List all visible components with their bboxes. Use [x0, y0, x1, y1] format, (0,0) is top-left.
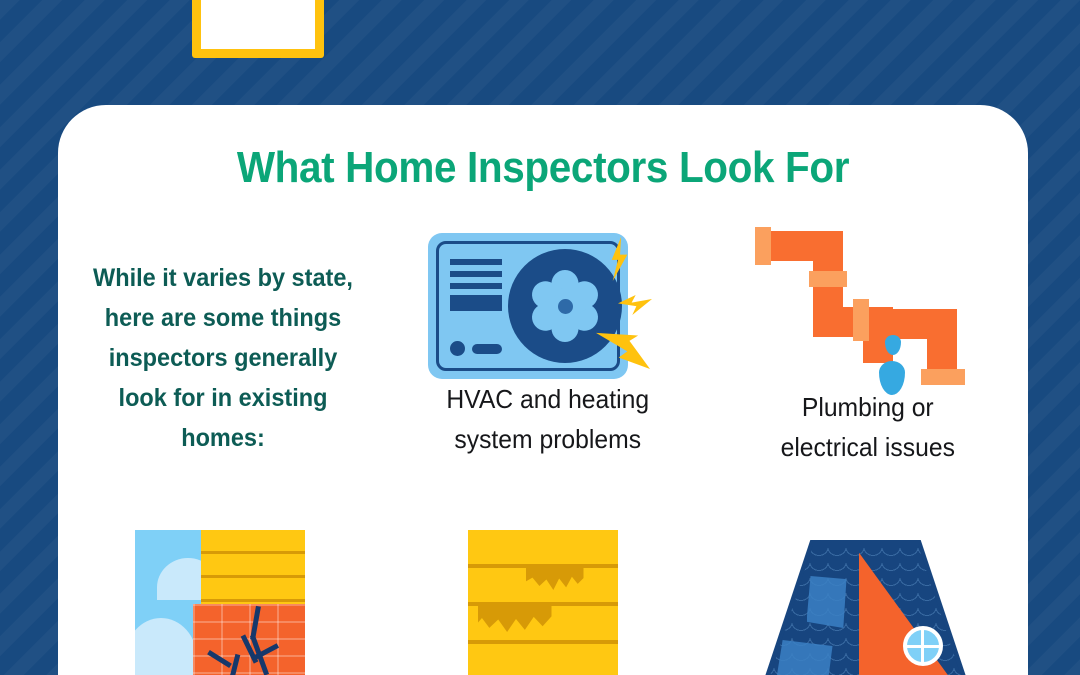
items-row-top: While it varies by state, here are some … [58, 225, 1028, 490]
hvac-vent-line [450, 271, 502, 277]
hvac-switch-icon [472, 344, 502, 354]
water-drop-icon [885, 335, 901, 355]
water-stain [526, 568, 584, 590]
plumbing-icon-wrap [743, 225, 993, 387]
pipe-joint [755, 227, 771, 265]
item-hvac: HVAC and heating system problems [388, 225, 708, 490]
water-damage-icon [468, 530, 618, 675]
hvac-fan-hub [558, 299, 573, 314]
item-plumbing: Plumbing or electrical issues [708, 225, 1028, 490]
item-caption: HVAC and heating system problems [447, 379, 650, 459]
pipe-joint [853, 299, 869, 341]
hvac-vent-line [450, 259, 502, 265]
hvac-knob-icon [450, 341, 465, 356]
content-card: What Home Inspectors Look For While it v… [58, 105, 1028, 675]
cracked-foundation-icon [135, 530, 305, 675]
item-roof [704, 520, 1027, 675]
leaking-pipe-icon [743, 227, 993, 387]
hvac-fan-icon [508, 249, 622, 363]
top-intro-text: condition of a home. [370, 0, 930, 4]
item-foundation [58, 520, 381, 675]
caption-line: system problems [447, 419, 650, 459]
item-caption: Plumbing or electrical issues [781, 387, 955, 467]
brick-wall [193, 604, 305, 675]
roof-worn-patch [775, 640, 833, 675]
pipe-joint [921, 369, 965, 385]
page-title: What Home Inspectors Look For [97, 143, 989, 193]
caption-line: Plumbing or [781, 387, 955, 427]
house-siding [201, 530, 305, 610]
pipe-joint [809, 271, 847, 287]
infographic-canvas: condition of a home. What Home Inspector… [0, 0, 1080, 675]
clipboard-sheet [201, 0, 315, 49]
hvac-unit-icon [428, 233, 668, 379]
items-row-bottom [58, 520, 1028, 675]
caption-line: HVAC and heating [447, 379, 650, 419]
water-stain [478, 606, 552, 632]
hvac-vent-line [450, 283, 502, 289]
checklist-clipboard-icon [192, 0, 324, 58]
top-section: condition of a home. [0, 0, 1080, 110]
round-window-icon [903, 626, 943, 666]
roof-worn-patch [807, 576, 847, 628]
intro-column: While it varies by state, here are some … [58, 225, 388, 490]
hvac-panel [450, 295, 502, 311]
hvac-body [428, 233, 628, 379]
hvac-icon-wrap [428, 225, 668, 379]
hvac-vents [450, 259, 502, 289]
item-water-damage [381, 520, 704, 675]
intro-paragraph: While it varies by state, here are some … [85, 258, 361, 458]
roof-shingles-icon [751, 530, 981, 675]
caption-line: electrical issues [781, 427, 955, 467]
